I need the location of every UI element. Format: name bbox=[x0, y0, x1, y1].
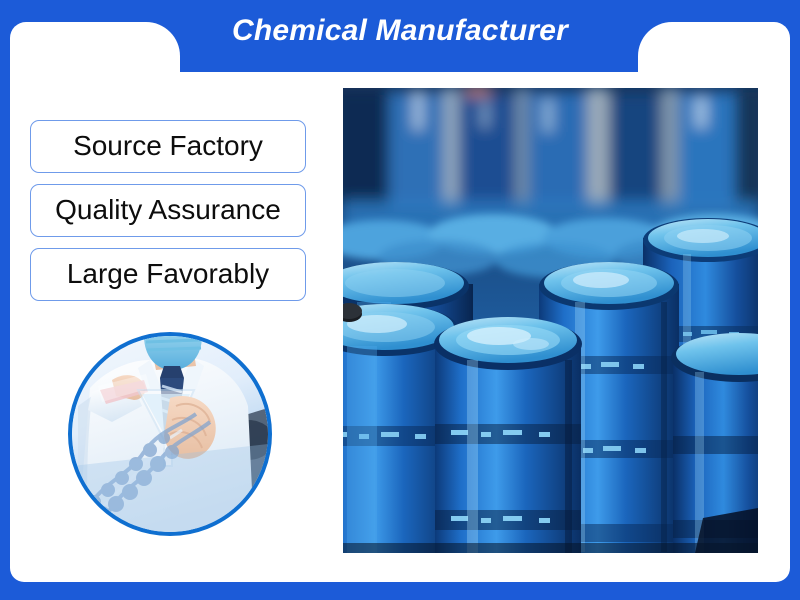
lab-photo-artwork bbox=[72, 336, 268, 532]
feature-box-source-factory[interactable]: Source Factory bbox=[30, 120, 306, 173]
promo-banner: Chemical Manufacturer Source Factory Qua… bbox=[0, 0, 800, 600]
feature-box-large-favorably[interactable]: Large Favorably bbox=[30, 248, 306, 301]
feature-list: Source Factory Quality Assurance Large F… bbox=[30, 120, 306, 312]
lab-photo bbox=[68, 332, 272, 536]
product-photo-artwork bbox=[343, 88, 758, 553]
drum-front-center bbox=[434, 317, 582, 553]
product-photo bbox=[343, 88, 758, 553]
feature-box-quality-assurance[interactable]: Quality Assurance bbox=[30, 184, 306, 237]
page-title: Chemical Manufacturer bbox=[0, 0, 800, 62]
header-bar: Chemical Manufacturer bbox=[0, 0, 800, 72]
